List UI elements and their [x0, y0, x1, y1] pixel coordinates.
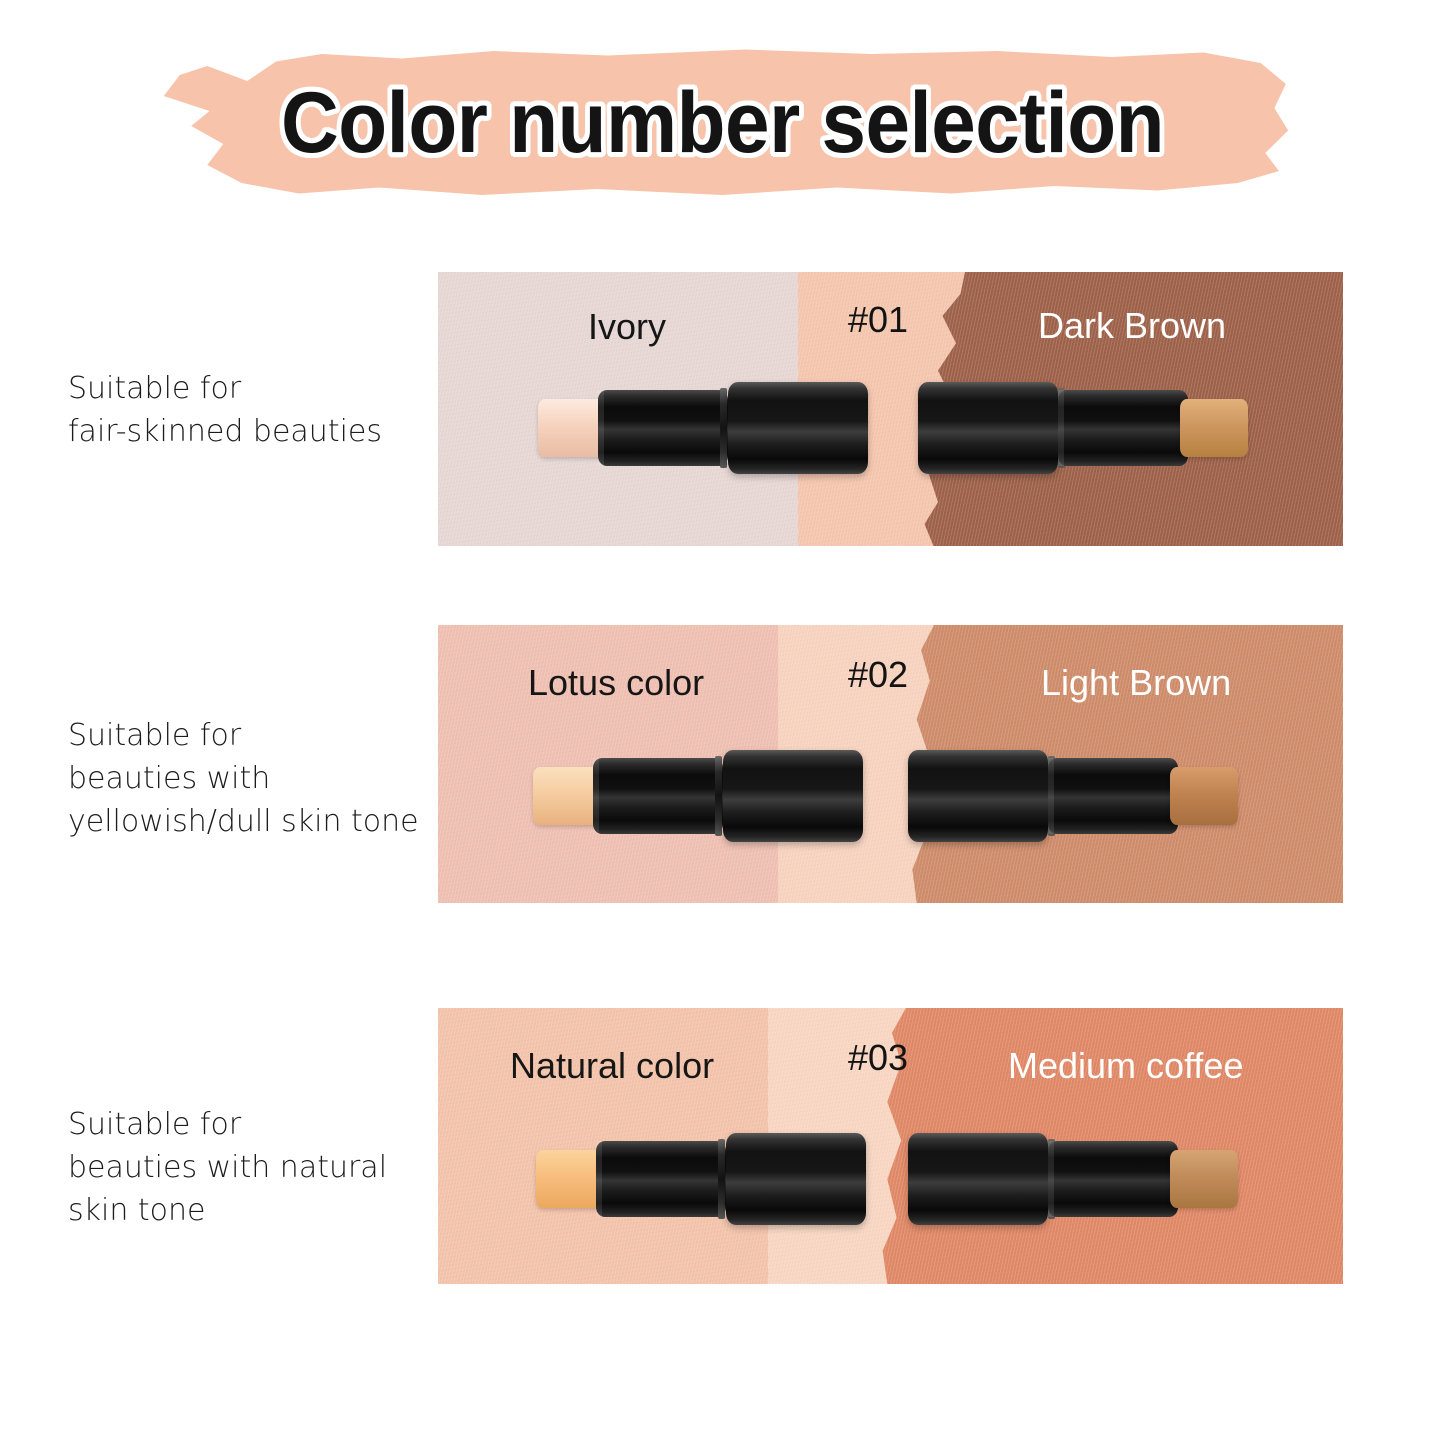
stick-barrel: [598, 390, 728, 466]
row-description-line: Suitable for: [68, 715, 428, 758]
row-description-line: yellowish/dull skin tone: [68, 801, 428, 844]
row-description: Suitable for fair-skinned beauties: [68, 368, 428, 454]
stick-tip: [538, 399, 606, 457]
product-stick-left: [538, 382, 868, 474]
product-stick-left: [536, 1133, 866, 1225]
stick-cap: [728, 382, 868, 474]
product-stick-right: [908, 750, 1238, 842]
stick-ring: [718, 1139, 725, 1219]
stick-ring: [720, 388, 727, 468]
stick-barrel: [593, 758, 723, 834]
row-description-line: skin tone: [68, 1190, 428, 1233]
shade-number: #01: [848, 302, 908, 338]
shade-number: #02: [848, 657, 908, 693]
product-stick-right: [918, 382, 1248, 474]
stick-ring: [715, 756, 722, 836]
stick-barrel: [1048, 1141, 1178, 1217]
color-row: Suitable for beauties with natural skin …: [0, 1008, 1445, 1284]
shade-name-left: Natural color: [510, 1048, 714, 1084]
shade-name-left: Lotus color: [528, 665, 704, 701]
row-description: Suitable for beauties with yellowish/dul…: [68, 715, 428, 844]
swatch-panel: Ivory #01 Dark Brown: [438, 272, 1343, 546]
stick-tip: [1180, 399, 1248, 457]
stick-cap: [918, 382, 1058, 474]
shade-number: #03: [848, 1040, 908, 1076]
product-stick-right: [908, 1133, 1238, 1225]
stick-cap: [723, 750, 863, 842]
row-description-line: beauties with: [68, 758, 428, 801]
row-description-line: beauties with natural: [68, 1147, 428, 1190]
stick-barrel: [1058, 390, 1188, 466]
shade-name-right: Medium coffee: [1008, 1048, 1243, 1084]
swatch-panel: Lotus color #02 Light Brown: [438, 625, 1343, 903]
product-stick-left: [533, 750, 863, 842]
shade-name-left: Ivory: [588, 309, 666, 345]
stick-tip: [1170, 767, 1238, 825]
swatch-panel: Natural color #03 Medium coffee: [438, 1008, 1343, 1284]
color-row: Suitable for fair-skinned beauties Ivory…: [0, 272, 1445, 546]
stick-barrel: [1048, 758, 1178, 834]
shade-name-right: Dark Brown: [1038, 308, 1226, 344]
row-description-line: Suitable for: [68, 368, 428, 411]
page-title: Color number selection: [190, 48, 1255, 198]
stick-cap: [908, 750, 1048, 842]
stick-barrel: [596, 1141, 726, 1217]
stick-tip: [536, 1150, 604, 1208]
stick-cap: [908, 1133, 1048, 1225]
stick-tip: [1170, 1150, 1238, 1208]
row-description-line: Suitable for: [68, 1104, 428, 1147]
row-description: Suitable for beauties with natural skin …: [68, 1104, 428, 1233]
row-description-line: fair-skinned beauties: [68, 411, 428, 454]
stick-tip: [533, 767, 601, 825]
title-banner: Color number selection: [150, 48, 1295, 198]
stick-cap: [726, 1133, 866, 1225]
color-row: Suitable for beauties with yellowish/dul…: [0, 625, 1445, 903]
shade-name-right: Light Brown: [1041, 665, 1231, 701]
